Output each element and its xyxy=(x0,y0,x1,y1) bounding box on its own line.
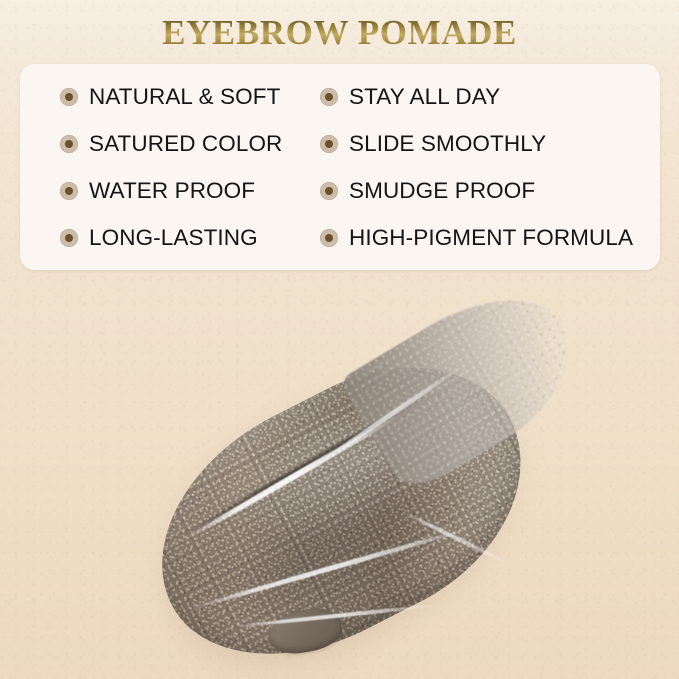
feature-label: WATER PROOF xyxy=(89,178,255,204)
feature-label: NATURAL & SOFT xyxy=(89,84,280,110)
feature-item-satured-color: SATURED COLOR xyxy=(20,131,316,157)
bullet-dot-icon xyxy=(320,182,338,200)
feature-item-natural-soft: NATURAL & SOFT xyxy=(20,84,316,110)
bullet-dot-icon xyxy=(60,229,78,247)
feature-label: LONG-LASTING xyxy=(89,225,258,251)
feature-label: HIGH-PIGMENT FORMULA xyxy=(349,225,633,251)
bullet-dot-icon xyxy=(320,135,338,153)
bullet-dot-icon xyxy=(60,182,78,200)
feature-label: STAY ALL DAY xyxy=(349,84,500,110)
product-swatch-area xyxy=(0,276,679,679)
bullet-dot-icon xyxy=(60,135,78,153)
feature-grid: NATURAL & SOFT STAY ALL DAY SATURED COLO… xyxy=(20,73,660,261)
page-title: EYEBROW POMADE xyxy=(0,12,679,54)
feature-label: SATURED COLOR xyxy=(89,131,282,157)
bullet-dot-icon xyxy=(320,88,338,106)
pomade-swatch-image xyxy=(120,284,570,674)
product-infographic-page: EYEBROW POMADE NATURAL & SOFT STAY ALL D… xyxy=(0,0,679,679)
bullet-dot-icon xyxy=(320,229,338,247)
feature-list-card: NATURAL & SOFT STAY ALL DAY SATURED COLO… xyxy=(20,64,660,270)
bullet-dot-icon xyxy=(60,88,78,106)
feature-item-high-pigment-formula: HIGH-PIGMENT FORMULA xyxy=(316,225,660,251)
feature-item-smudge-proof: SMUDGE PROOF xyxy=(316,178,660,204)
feature-item-long-lasting: LONG-LASTING xyxy=(20,225,316,251)
feature-item-water-proof: WATER PROOF xyxy=(20,178,316,204)
feature-label: SLIDE SMOOTHLY xyxy=(349,131,546,157)
feature-label: SMUDGE PROOF xyxy=(349,178,535,204)
feature-item-slide-smoothly: SLIDE SMOOTHLY xyxy=(316,131,660,157)
feature-item-stay-all-day: STAY ALL DAY xyxy=(316,84,660,110)
